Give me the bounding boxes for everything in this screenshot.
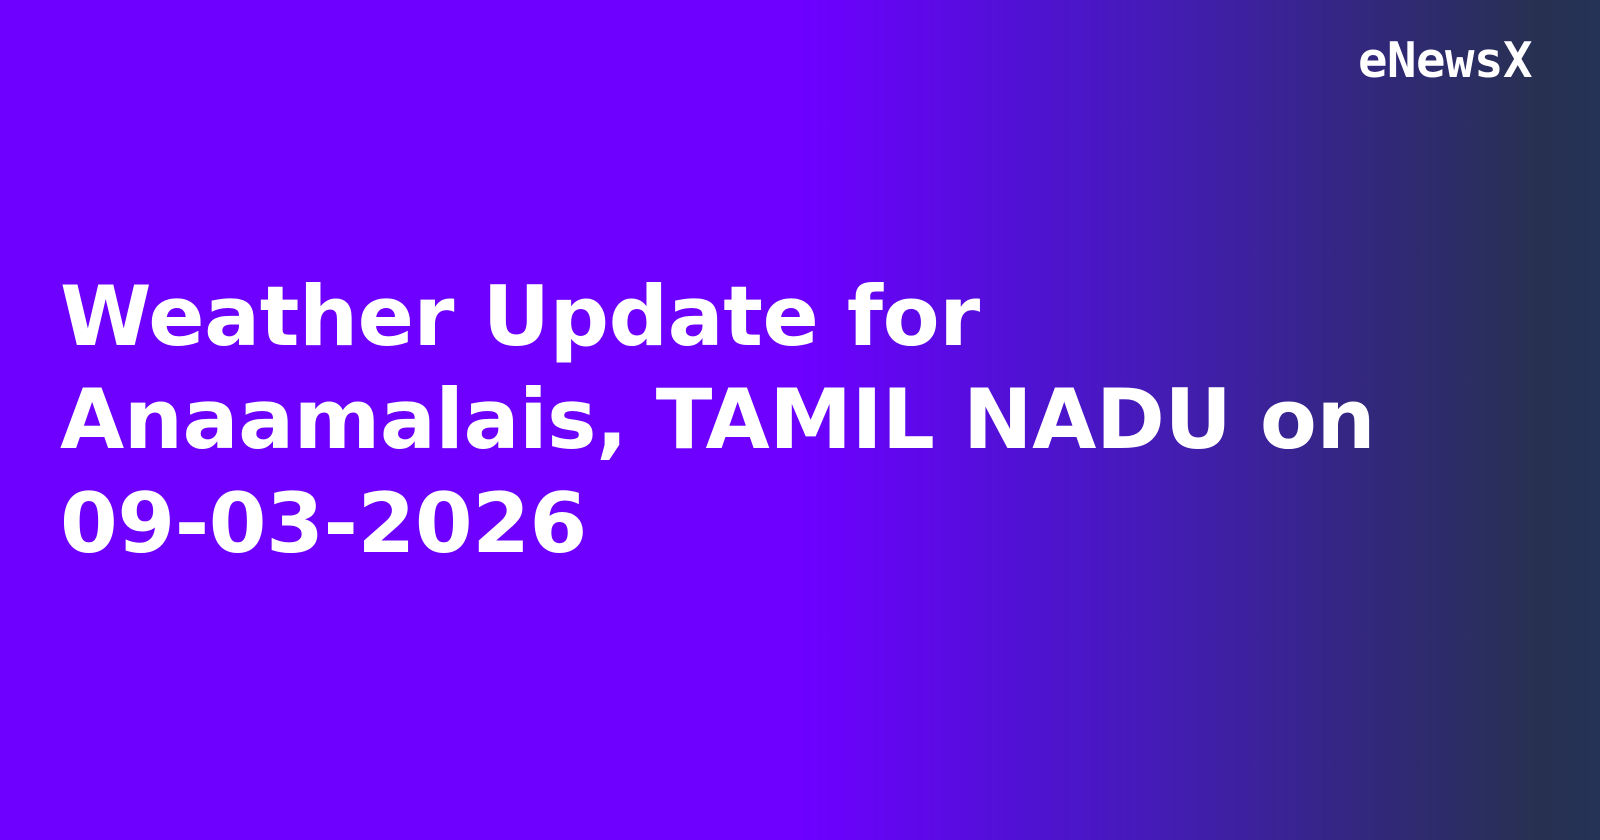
headline-container: Weather Update for Anaamalais, TAMIL NAD… [0, 0, 1600, 840]
brand-logo[interactable]: eNewsX [1358, 30, 1532, 90]
brand-wordmark-text: eNewsX [1358, 36, 1532, 85]
page-title: Weather Update for Anaamalais, TAMIL NAD… [60, 265, 1400, 575]
news-banner: eNewsX Weather Update for Anaamalais, TA… [0, 0, 1600, 840]
